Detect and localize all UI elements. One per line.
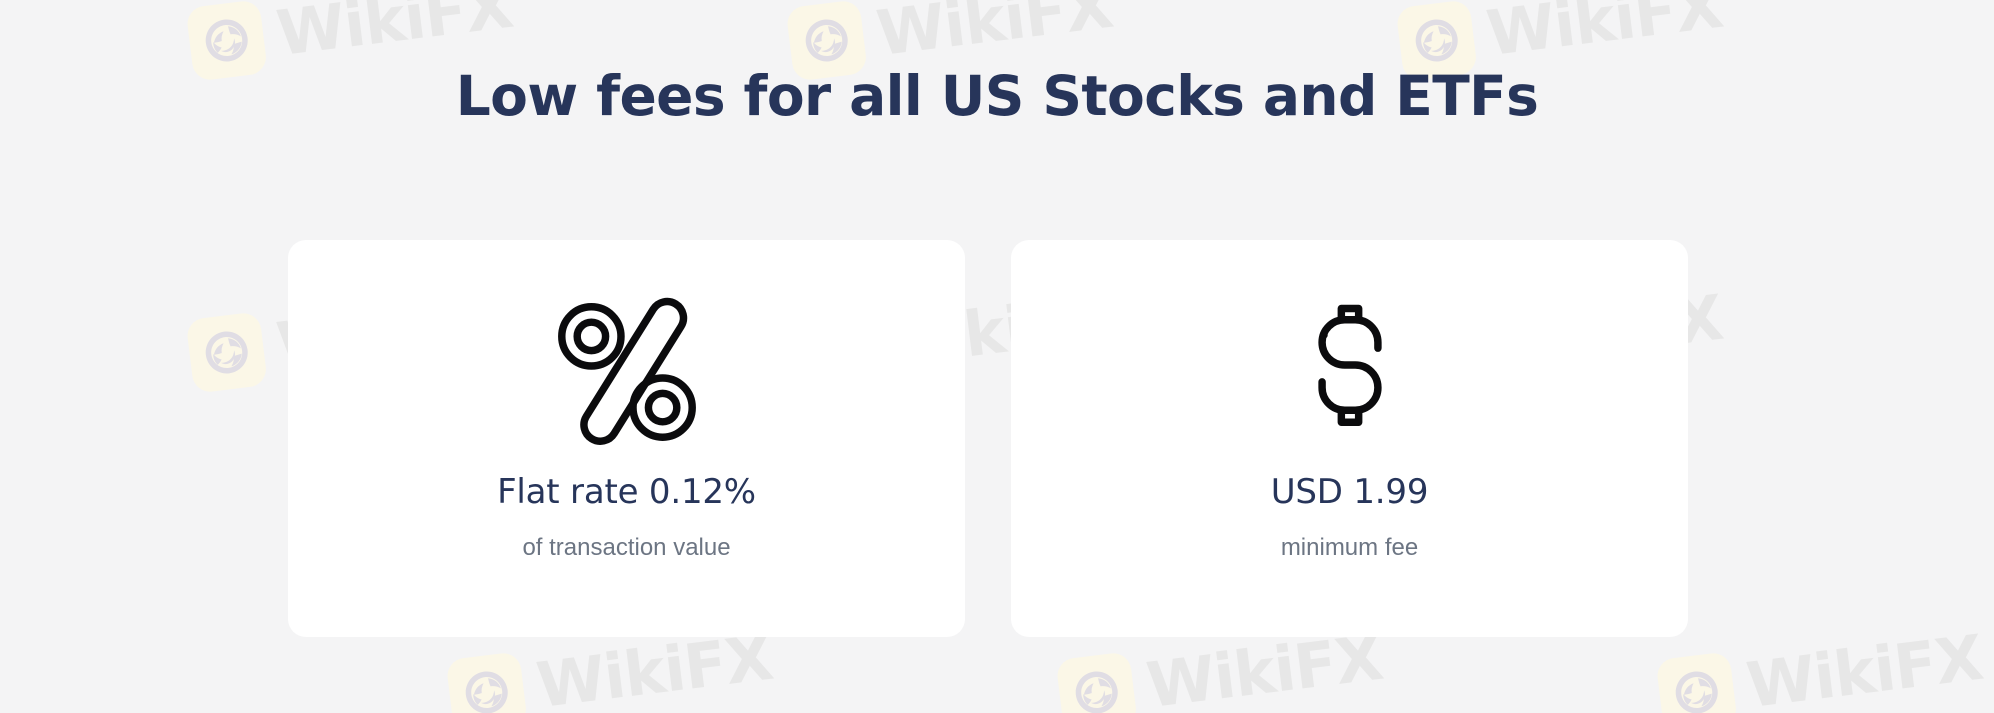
fee-card-value: Flat rate 0.12% <box>497 474 756 511</box>
watermark-label: WikiFX <box>274 0 516 65</box>
wikifx-logo-icon <box>1655 651 1737 713</box>
watermark-label: WikiFX <box>1484 0 1726 65</box>
dollar-sign-icon <box>1280 292 1420 452</box>
fee-card-value: USD 1.99 <box>1271 474 1429 511</box>
page-title: Low fees for all US Stocks and ETFs <box>0 64 1994 129</box>
fee-card-caption: of transaction value <box>522 535 730 561</box>
watermark-label: WikiFX <box>874 0 1116 65</box>
percent-icon <box>550 292 704 452</box>
watermark-label: WikiFX <box>1144 627 1386 713</box>
watermark-label: WikiFX <box>1744 627 1986 713</box>
fee-card-minimum-fee: USD 1.99 minimum fee <box>1011 240 1688 637</box>
fee-card-caption: minimum fee <box>1281 535 1418 561</box>
wikifx-logo-icon <box>445 651 527 713</box>
wikifx-logo-icon <box>1055 651 1137 713</box>
fee-card-flat-rate: Flat rate 0.12% of transaction value <box>288 240 965 637</box>
fee-cards-row: Flat rate 0.12% of transaction value <box>288 240 1688 637</box>
watermark-label: WikiFX <box>534 627 776 713</box>
watermark-wikifx: WikiFX <box>1655 621 1986 713</box>
wikifx-logo-icon <box>185 311 267 393</box>
